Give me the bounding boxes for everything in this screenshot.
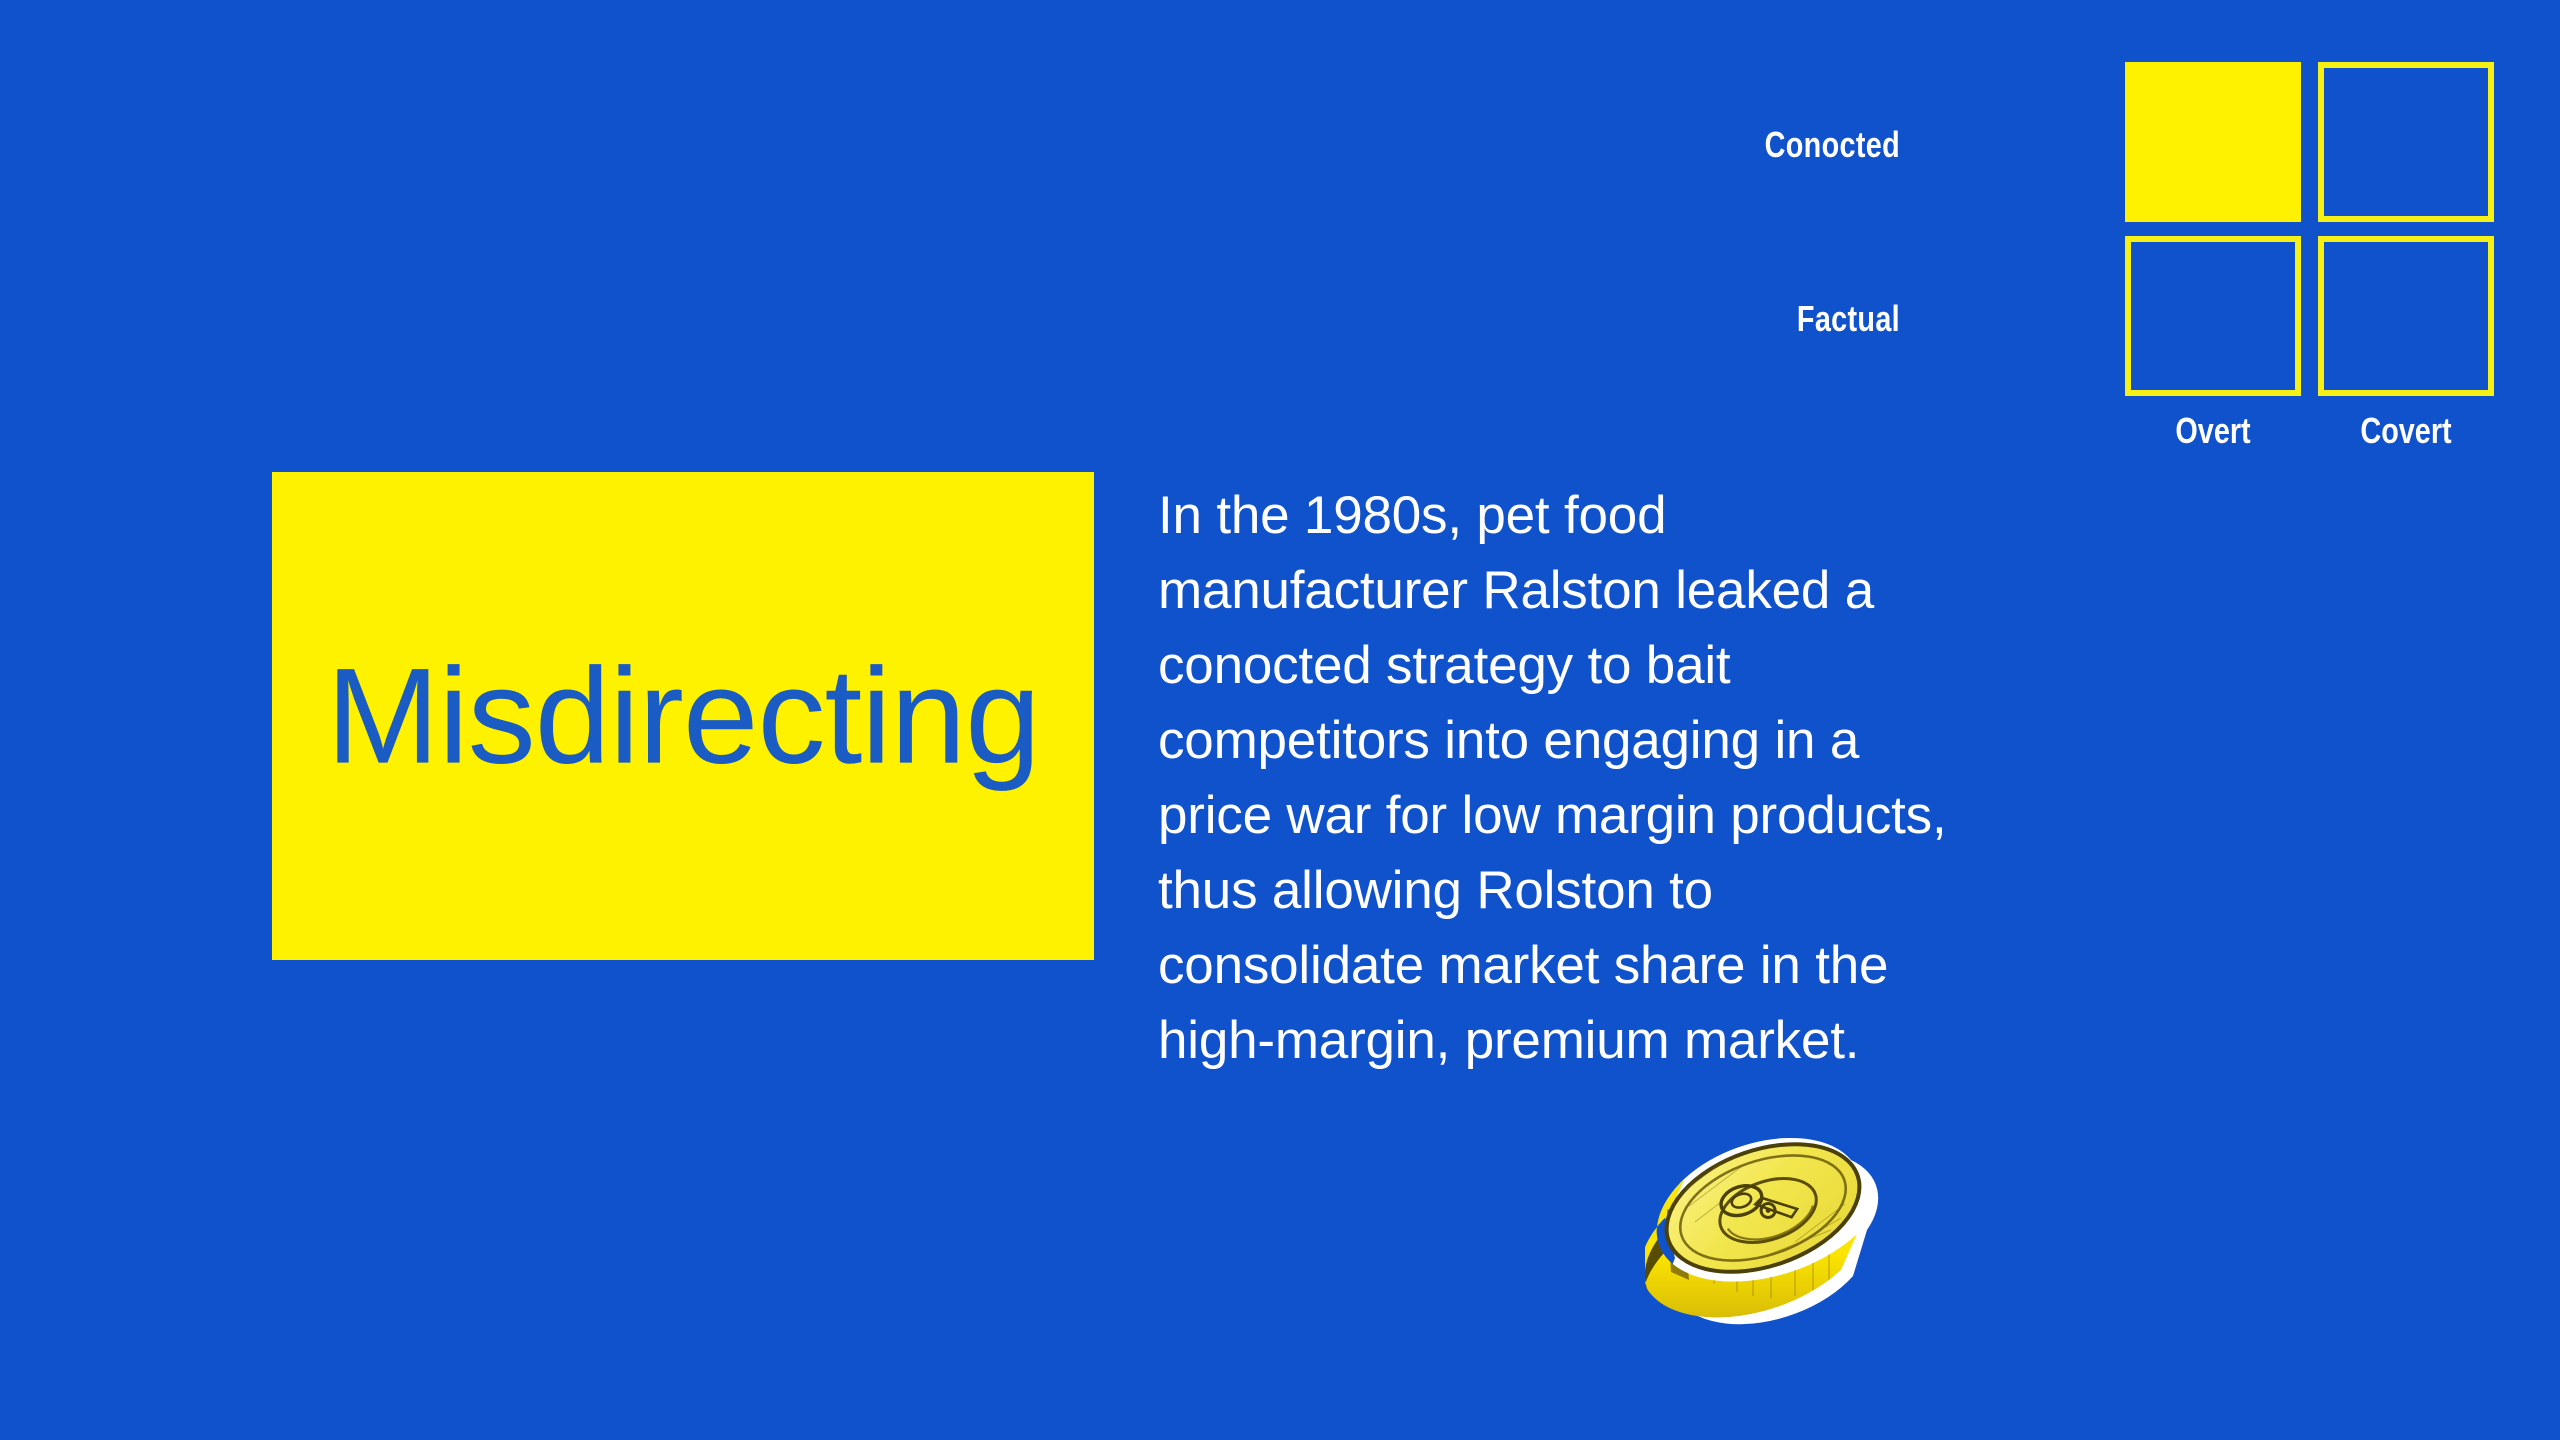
matrix-cell-conocted-overt[interactable]	[2125, 62, 2301, 222]
slide-canvas: Conocted Factual Overt Covert Misdirecti…	[0, 0, 2560, 1440]
matrix-column-label-covert: Covert	[2318, 410, 2494, 452]
page-title: Misdirecting	[272, 647, 1094, 786]
matrix-cell-factual-covert[interactable]	[2318, 236, 2494, 396]
matrix-cell-conocted-covert[interactable]	[2318, 62, 2494, 222]
title-highlight-box: Misdirecting	[272, 472, 1094, 960]
matrix-row-label-factual: Factual	[1580, 298, 1900, 340]
matrix-cell-factual-overt[interactable]	[2125, 236, 2301, 396]
quadrant-matrix: Conocted Factual Overt Covert	[1900, 50, 2540, 480]
matrix-column-label-overt: Overt	[2125, 410, 2301, 452]
matrix-row-label-conocted: Conocted	[1580, 124, 1900, 166]
pet-food-can-icon	[1645, 1130, 1895, 1340]
matrix-column-label-covert-text: Covert	[2360, 410, 2451, 452]
body-paragraph: In the 1980s, pet food manufacturer Rals…	[1158, 478, 1958, 1078]
matrix-column-label-overt-text: Overt	[2175, 410, 2250, 452]
